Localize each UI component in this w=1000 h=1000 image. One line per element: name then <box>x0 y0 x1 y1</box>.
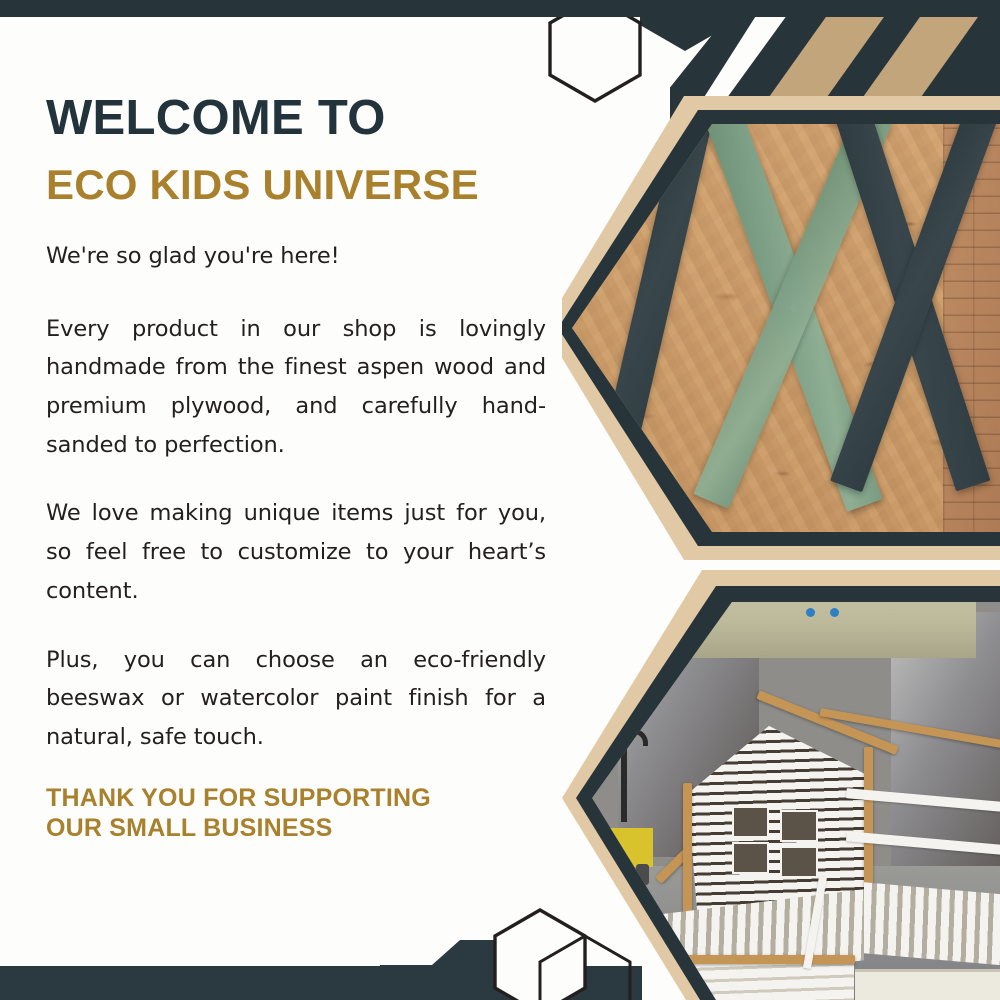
lead-paragraph: We're so glad you're here! <box>46 237 546 276</box>
bed-slats-right <box>864 883 1000 970</box>
paragraph-2: We love making unique items just for you… <box>46 494 546 610</box>
bed-drawer <box>855 969 1000 1000</box>
poster-canvas: MB <box>0 0 1000 1000</box>
top-accent-bar <box>0 0 1000 17</box>
text-column: WELCOME TO ECO KIDS UNIVERSE We're so gl… <box>46 92 546 844</box>
bed-window-2 <box>780 810 817 842</box>
page-title-brand: ECO KIDS UNIVERSE <box>46 163 546 207</box>
bed-window-1 <box>732 806 769 838</box>
machine-sticker-b <box>830 608 839 617</box>
body-copy: We're so glad you're here! Every product… <box>46 237 546 844</box>
photo-painted-planks <box>562 68 1000 588</box>
paragraph-3: Plus, you can choose an eco-friendly bee… <box>46 641 546 757</box>
bed-window-3 <box>732 842 769 874</box>
bed-window-4 <box>780 846 817 878</box>
paragraph-1: Every product in our shop is lovingly ha… <box>46 310 546 465</box>
thank-you-message: THANK YOU FOR SUPPORTING OUR SMALL BUSIN… <box>46 783 546 844</box>
hexagon-cluster-bottom <box>380 880 700 1000</box>
page-title-welcome: WELCOME TO <box>46 92 546 145</box>
